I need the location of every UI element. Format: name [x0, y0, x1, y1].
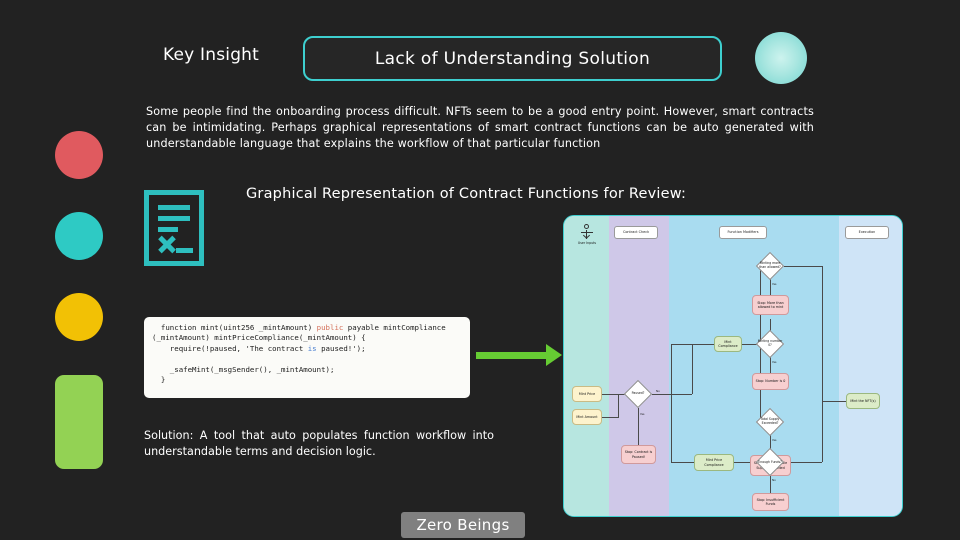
- decision-enough-funds-label: Enough Funds?: [758, 456, 782, 469]
- code-keyword-public: public: [317, 323, 344, 332]
- swimlane-user-inputs: [564, 216, 609, 517]
- code-line-6: }: [152, 375, 165, 384]
- slide-title-pill: Lack of Understanding Solution: [303, 36, 722, 81]
- decorative-orb: [755, 32, 807, 84]
- decision-number-zero-label: Minting number 0?: [756, 337, 784, 351]
- node-stop-number-zero[interactable]: Stop: Number is 0: [752, 373, 789, 390]
- bullet-bar-green: [55, 375, 103, 469]
- swimlane-execution: [839, 216, 903, 517]
- swimlane-label-user-inputs: User Inputs: [568, 241, 606, 245]
- flowchart-panel: User Inputs Contract Check Function Modi…: [563, 215, 903, 517]
- node-mint-price-compliance[interactable]: Mint Price Compliance: [694, 454, 734, 471]
- code-keyword-is: is: [308, 344, 317, 353]
- code-line-5: _safeMint(_msgSender(), _mintAmount);: [152, 365, 334, 374]
- bullet-dot-yellow: [55, 293, 103, 341]
- document-icon: [144, 190, 204, 266]
- decision-paused-label: Paused?: [626, 388, 650, 400]
- edge-label-yes-zero: Yes: [772, 360, 777, 364]
- node-stop-insufficient-funds[interactable]: Stop: Insufficient Funds: [752, 493, 789, 511]
- edge-label-no-funds: No: [772, 478, 776, 482]
- bullet-dot-teal: [55, 212, 103, 260]
- node-mint-compliance[interactable]: Mint Compliance: [714, 336, 742, 352]
- node-mint-nfts[interactable]: Mint the NFT(s): [846, 393, 880, 409]
- flow-arrow-head: [546, 344, 562, 366]
- section-subheading: Graphical Representation of Contract Fun…: [246, 186, 686, 202]
- node-stop-paused[interactable]: Stop: Contract is Paused!: [621, 445, 656, 464]
- code-line-3b: paused!');: [317, 344, 366, 353]
- footer-banner-label: Zero Beings: [416, 516, 509, 534]
- decision-supply-exceeded-label: Total Supply Exceeded?: [756, 415, 784, 429]
- swimlane-label-contract-check: Contract Check: [614, 226, 658, 239]
- code-line-1a: function mint(uint256 _mintAmount): [152, 323, 317, 332]
- swimlane-contract-check: [609, 216, 669, 517]
- edge-label-no-paused: No: [656, 389, 660, 393]
- code-line-1b: payable mintCompliance: [343, 323, 445, 332]
- flow-arrow-line: [476, 352, 548, 359]
- edge-label-yes-allowed: Yes: [772, 282, 777, 286]
- code-snippet-card: function mint(uint256 _mintAmount) publi…: [144, 317, 470, 398]
- edge-label-yes-supply: Yes: [772, 438, 777, 442]
- solution-text: Solution: A tool that auto populates fun…: [144, 428, 494, 460]
- code-line-3a: require(!paused, 'The contract: [152, 344, 308, 353]
- code-line-2: (_mintAmount) mintPriceCompliance(_mintA…: [152, 333, 366, 342]
- page-title: Lack of Understanding Solution: [375, 49, 650, 69]
- footer-banner: Zero Beings: [401, 512, 525, 538]
- node-stop-more-than-allowed[interactable]: Stop: More than allowed to mint: [752, 295, 789, 315]
- node-mint-price[interactable]: Mint Price: [572, 386, 602, 402]
- swimlane-label-function-modifiers: Function Modifiers: [719, 226, 767, 239]
- node-mint-amount[interactable]: Mint Amount: [572, 409, 602, 425]
- decision-more-than-allowed-label: Minting more than allowed?: [756, 259, 784, 273]
- edge-label-yes-paused: Yes: [640, 412, 645, 416]
- key-insight-label: Key Insight: [163, 45, 259, 65]
- swimlane-label-execution: Execution: [845, 226, 889, 239]
- bullet-dot-red: [55, 131, 103, 179]
- intro-paragraph: Some people find the onboarding process …: [146, 104, 814, 152]
- slide-root: Key Insight Lack of Understanding Soluti…: [0, 0, 960, 540]
